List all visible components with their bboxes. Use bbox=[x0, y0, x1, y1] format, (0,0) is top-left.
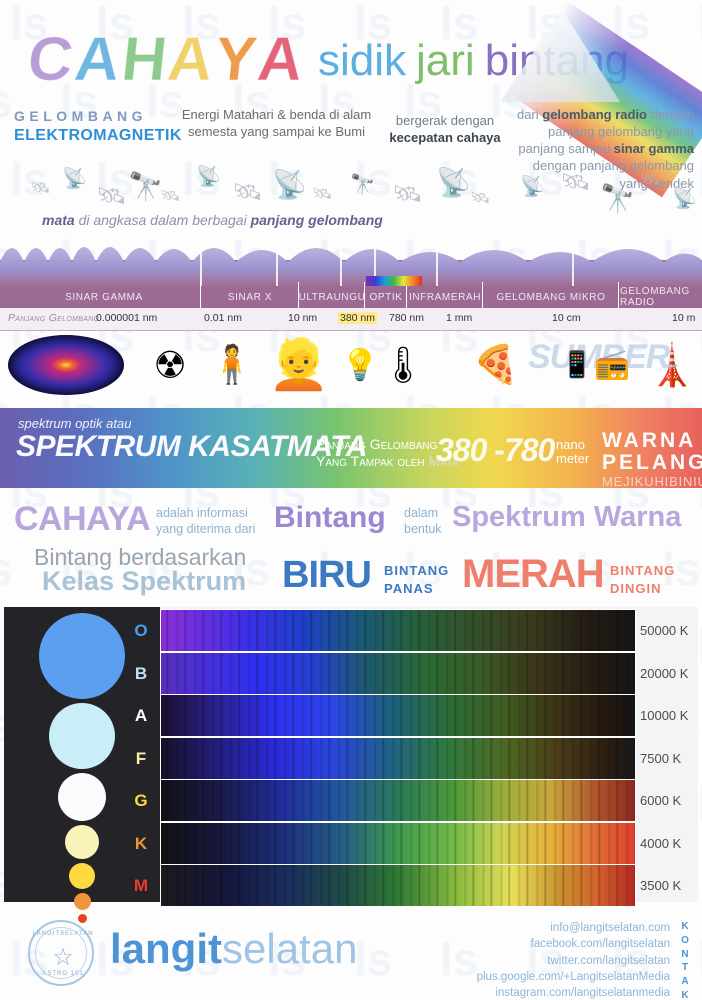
subtitle-word-0: sidik bbox=[318, 36, 406, 86]
contact-list: info@langitselatan.comfacebook.com/langi… bbox=[477, 920, 670, 1000]
statement-merah: MERAH bbox=[462, 552, 604, 597]
wavelength-value-1: 0.01 nm bbox=[204, 312, 242, 324]
infographic-page: lslslslslslslslslslslslslslslslslslslsls… bbox=[0, 0, 702, 1000]
satellite-icon: 📡 bbox=[672, 186, 697, 211]
satellite-icon: 🔭 bbox=[350, 172, 375, 197]
mata-caption: mata di angkasa dalam berbagai panjang g… bbox=[42, 212, 383, 228]
stellar-spectrum-G bbox=[160, 779, 636, 822]
contact-line-0[interactable]: info@langitselatan.com bbox=[477, 920, 670, 936]
desc-panjang: Panjang bbox=[316, 436, 366, 452]
temperature-label-B: 20000 K bbox=[640, 666, 688, 681]
star-disc-B bbox=[49, 703, 115, 769]
spectrum-band-gelombang-mikro: GELOMBANG MIKRO bbox=[484, 286, 618, 308]
satellite-icon: 🛰 bbox=[560, 168, 590, 197]
spectrum-band-ultraungu: ULTRAUNGU bbox=[300, 286, 364, 308]
absorption-lines bbox=[161, 780, 635, 821]
temperature-label-K: 4000 K bbox=[640, 836, 681, 851]
spectral-class-label-M: M bbox=[130, 876, 152, 896]
absorption-lines bbox=[161, 653, 635, 694]
page-title: CAHAYA bbox=[28, 24, 305, 95]
absorption-lines bbox=[161, 695, 635, 736]
uv-sunbather-icon: 👱 bbox=[268, 336, 330, 394]
wavelength-scale-row: Panjang Gelombang 0.000001 nm0.01 nm10 n… bbox=[0, 308, 702, 331]
spectral-class-label-A: A bbox=[130, 706, 152, 726]
header: CAHAYA sidikjaribintang bbox=[0, 0, 702, 100]
statement-kelas-spektrum: Kelas Spektrum bbox=[42, 566, 246, 597]
satellite-icon: 📡 bbox=[520, 174, 545, 199]
absorption-lines bbox=[161, 610, 635, 651]
radio-icon: 📻 bbox=[588, 348, 636, 382]
band-divider bbox=[200, 282, 201, 308]
spectrum-band-sinar-x: SINAR X bbox=[202, 286, 298, 308]
wavelength-value-3: 380 nm bbox=[338, 312, 377, 324]
wavelength-value-7: 10 m bbox=[672, 312, 695, 324]
intro-col2-plain: bergerak dengan bbox=[396, 113, 494, 128]
brand-selatan: selatan bbox=[222, 925, 357, 972]
contact-line-4[interactable]: instagram.com/langitselatanmedia bbox=[477, 985, 670, 1000]
wavelength-value-4: 780 nm bbox=[389, 312, 424, 324]
band-divider bbox=[298, 282, 299, 308]
mata-caption-bold-2: panjang gelombang bbox=[251, 212, 383, 228]
source-icons-row: ☢🧍👱💡🌡🍕📱📻🗼 bbox=[0, 330, 702, 404]
statement-biru: BIRU bbox=[282, 554, 371, 597]
spectral-class-label-B: B bbox=[130, 664, 152, 684]
unit-nano: nano bbox=[556, 437, 585, 452]
label-gelombang: GELOMBANG bbox=[14, 108, 174, 124]
microwave-pizza-icon: 🍕 bbox=[462, 343, 530, 387]
wave-illustration bbox=[0, 228, 702, 286]
satellite-icon: 🛰 bbox=[640, 170, 660, 190]
temperature-label-G: 6000 K bbox=[640, 793, 681, 808]
satellite-icon: 🛰 bbox=[160, 186, 180, 206]
visible-panel-subtitle: spektrum optik atau bbox=[18, 416, 131, 431]
contact-line-2[interactable]: twitter.com/langitselatan bbox=[477, 953, 670, 969]
wavelength-row-title: Panjang Gelombang bbox=[8, 312, 99, 324]
desc-yang: Yang bbox=[316, 453, 347, 469]
spectral-class-label-F: F bbox=[130, 749, 152, 769]
satellite-icon: 📡 bbox=[272, 168, 307, 201]
visible-range-unit: nano meter bbox=[556, 438, 589, 467]
watermark-glyph: ls bbox=[698, 624, 702, 670]
wavelength-value-0: 0.000001 nm bbox=[96, 312, 157, 324]
statement-spektrum-warna: Spektrum Warna bbox=[452, 501, 681, 534]
star-disc-O bbox=[39, 613, 125, 699]
kontak-letter-1: O bbox=[678, 934, 692, 948]
stellar-spectrum-A bbox=[160, 694, 636, 737]
wavelength-value-5: 1 mm bbox=[446, 312, 472, 324]
star-disc-A bbox=[58, 773, 106, 821]
kontak-letter-5: K bbox=[678, 989, 692, 1000]
satellite-icon: 🛰 bbox=[30, 178, 50, 198]
satellite-icon: 📡 bbox=[436, 166, 471, 199]
mnemonic-label: MEJIKUHIBINIU bbox=[602, 474, 702, 489]
kontak-letter-4: A bbox=[678, 975, 692, 989]
satellite-icon: 📡 bbox=[196, 164, 221, 189]
mata-caption-mid: di angkasa dalam berbagai bbox=[75, 212, 251, 228]
brand-wordmark[interactable]: langitselatan bbox=[110, 928, 357, 970]
seal-top-text: LANGITSELATAN bbox=[30, 931, 96, 937]
spectral-class-label-O: O bbox=[130, 621, 152, 641]
warna-line-2: PELANGI bbox=[602, 451, 702, 474]
band-divider bbox=[364, 282, 365, 308]
statement-cahaya: CAHAYA bbox=[14, 500, 150, 539]
kontak-letter-2: N bbox=[678, 948, 692, 962]
spectral-class-label-G: G bbox=[130, 791, 152, 811]
warna-line-1: WARNA bbox=[602, 429, 696, 452]
statement-block: CAHAYA adalah informasi yang diterima da… bbox=[0, 496, 702, 596]
statement-dalam-bentuk: dalam bentuk bbox=[404, 506, 442, 537]
temperature-label-M: 3500 K bbox=[640, 878, 681, 893]
wavelength-value-6: 10 cm bbox=[552, 312, 581, 324]
stmt-bentuk: bentuk bbox=[404, 522, 442, 536]
galaxy-allsky-icon bbox=[8, 335, 124, 395]
band-divider bbox=[618, 282, 619, 308]
stmt-dalam: dalam bbox=[404, 506, 438, 520]
stellar-spectrum-B bbox=[160, 652, 636, 695]
label-elektromagnetik: ELEKTROMAGNETIK bbox=[14, 127, 174, 145]
stmt-yang-diterima: yang diterima dari bbox=[156, 522, 255, 536]
satellite-icon: 🛰 bbox=[470, 188, 490, 208]
wave-curves-svg bbox=[0, 232, 702, 286]
statement-bintang: Bintang bbox=[274, 501, 386, 535]
watermark-glyph: ls bbox=[698, 780, 702, 826]
kontak-letter-0: K bbox=[678, 920, 692, 934]
spectrum-band-gelombang-radio: GELOMBANG RADIO bbox=[620, 286, 700, 308]
observatory-seal-icon: LANGITSELATAN ☆ ASTRO 101 bbox=[28, 920, 94, 986]
kontak-vertical-label: KONTAK bbox=[678, 920, 692, 1000]
band-divider bbox=[482, 282, 483, 308]
seal-horse-glyph-icon: ☆ bbox=[30, 946, 96, 970]
stmt-adalah: adalah informasi bbox=[156, 506, 248, 520]
statement-adalah-informasi: adalah informasi yang diterima dari bbox=[156, 506, 270, 537]
star-disc-G bbox=[69, 863, 95, 889]
radio-tower-icon: 🗼 bbox=[648, 334, 696, 396]
spectrum-band-bar: SINAR GAMMASINAR XULTRAUNGUOPTIKINFRAMER… bbox=[0, 286, 702, 308]
intro-col2-bold: kecepatan cahaya bbox=[389, 130, 500, 145]
satellite-icon: 📡 bbox=[62, 166, 87, 191]
contact-line-3[interactable]: plus.google.com/+LangitselatanMedia bbox=[477, 969, 670, 985]
satellite-icon: 🛰 bbox=[312, 184, 332, 204]
brand-langit: langit bbox=[110, 925, 222, 972]
temperature-label-A: 10000 K bbox=[640, 708, 688, 723]
heater-icon: 🌡 bbox=[382, 339, 424, 391]
contact-line-1[interactable]: facebook.com/langitselatan bbox=[477, 936, 670, 952]
intro-col3-a: dari bbox=[517, 107, 542, 122]
statement-bintang-dingin: BINTANG DINGIN bbox=[610, 562, 675, 597]
spectrum-band-inframerah: INFRAMERAH bbox=[408, 286, 482, 308]
kontak-letter-3: T bbox=[678, 961, 692, 975]
lightbulb-icon: 💡 bbox=[342, 343, 378, 387]
title-letter-5: A bbox=[255, 24, 309, 95]
satellite-icon: 🛰 bbox=[96, 182, 126, 211]
wavelength-value-2: 10 nm bbox=[288, 312, 317, 324]
star-disc-F bbox=[65, 825, 99, 859]
desc-tampak: Tampak oleh bbox=[351, 453, 425, 469]
electromagnetic-label: GELOMBANG ELEKTROMAGNETIK bbox=[14, 108, 174, 145]
unit-meter: meter bbox=[556, 451, 589, 466]
spectrum-band-optik: OPTIK bbox=[366, 286, 406, 308]
satellite-icon: 🛰 bbox=[392, 180, 422, 209]
mata-caption-bold-1: mata bbox=[42, 212, 75, 228]
spectral-class-label-K: K bbox=[130, 834, 152, 854]
stmt-dingin: DINGIN bbox=[610, 581, 662, 596]
intro-column-1: Energi Matahari & benda di alam semesta … bbox=[174, 106, 379, 140]
footer: LANGITSELATAN ☆ ASTRO 101 langitselatan … bbox=[0, 906, 702, 1000]
absorption-lines bbox=[161, 823, 635, 864]
stmt-panas: PANAS bbox=[384, 581, 434, 596]
seal-bottom-text: ASTRO 101 bbox=[30, 971, 96, 977]
spectrum-band-sinar-gamma: SINAR GAMMA bbox=[8, 286, 200, 308]
visible-spectrum-panel: spektrum optik atau SPEKTRUM KASATMATA P… bbox=[0, 408, 702, 488]
temperature-label-O: 50000 K bbox=[640, 623, 688, 638]
title-letter-3: A bbox=[165, 24, 219, 95]
xray-child-icon: 🧍 bbox=[210, 336, 254, 394]
stellar-spectrum-M bbox=[160, 864, 636, 907]
stellar-spectrum-O bbox=[160, 609, 636, 652]
visible-range-value: 380 -780 bbox=[436, 432, 554, 469]
visible-range-marker bbox=[366, 276, 422, 286]
statement-bintang-panas: BINTANG PANAS bbox=[384, 562, 449, 597]
stellar-spectrum-K bbox=[160, 822, 636, 865]
intro-col3-d: sinar gamma bbox=[614, 141, 694, 156]
title-letter-2: H bbox=[118, 24, 172, 95]
stmt-bintang-2: BINTANG bbox=[610, 563, 675, 578]
warna-pelangi-label: WARNA PELANGI bbox=[602, 430, 702, 475]
spectral-class-chart: OBAFGKM 50000 K20000 K10000 K7500 K6000 … bbox=[4, 607, 698, 902]
radiation-icon: ☢ bbox=[148, 343, 192, 387]
satellite-icon: 🛰 bbox=[232, 178, 262, 207]
satellite-icon: 🔭 bbox=[128, 170, 163, 203]
absorption-lines bbox=[161, 738, 635, 779]
stmt-bintang-1: BINTANG bbox=[384, 563, 449, 578]
stellar-spectrum-F bbox=[160, 737, 636, 780]
intro-column-2: bergerak dengan kecepatan cahaya bbox=[385, 112, 505, 146]
desc-gelombang: Gelombang bbox=[370, 436, 438, 452]
satellite-icon: 🔭 bbox=[600, 182, 635, 215]
visible-panel-title: SPEKTRUM KASATMATA bbox=[16, 430, 367, 464]
title-letter-0: C bbox=[24, 24, 78, 95]
intro-col3-b: gelombang radio bbox=[542, 107, 647, 122]
subtitle-word-1: jari bbox=[416, 36, 475, 86]
temperature-label-F: 7500 K bbox=[640, 751, 681, 766]
absorption-lines bbox=[161, 865, 635, 906]
title-letter-1: A bbox=[71, 24, 125, 95]
